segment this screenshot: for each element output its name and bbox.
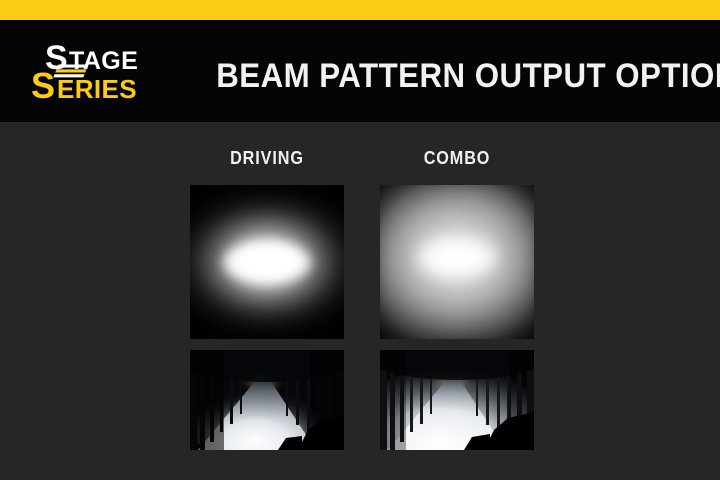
combo-road-photo: night forest road illuminated by a wide … (380, 350, 534, 450)
svg-text:S: S (31, 65, 55, 104)
combo-beam-vignette (380, 185, 534, 339)
driving-beam-hotspot (218, 238, 315, 286)
svg-text:ERIES: ERIES (57, 74, 137, 104)
combo-beam-glow (380, 185, 534, 339)
column-label-combo: COMBO (388, 147, 527, 169)
logo-word-stage: S TAGE (45, 39, 138, 77)
stage-series-logo: S TAGE S ERIES Stage Series (26, 36, 176, 104)
driving-road-photo: night forest road illuminated by a narro… (190, 350, 344, 450)
driving-beam-pattern: tight concentrated elliptical hotspot on… (190, 185, 344, 339)
driving-beam-glow (190, 185, 344, 339)
svg-text:TAGE: TAGE (69, 47, 138, 75)
accent-bar (0, 0, 720, 20)
page-title: BEAM PATTERN OUTPUT OPTIONS (216, 54, 681, 98)
beam-pattern-output-options-graphic: S TAGE S ERIES Stage Series BEAM PATTERN… (0, 0, 720, 480)
column-label-driving: DRIVING (198, 147, 337, 169)
combo-beam-pattern: broad diffuse wash filling the frame wit… (380, 185, 534, 339)
